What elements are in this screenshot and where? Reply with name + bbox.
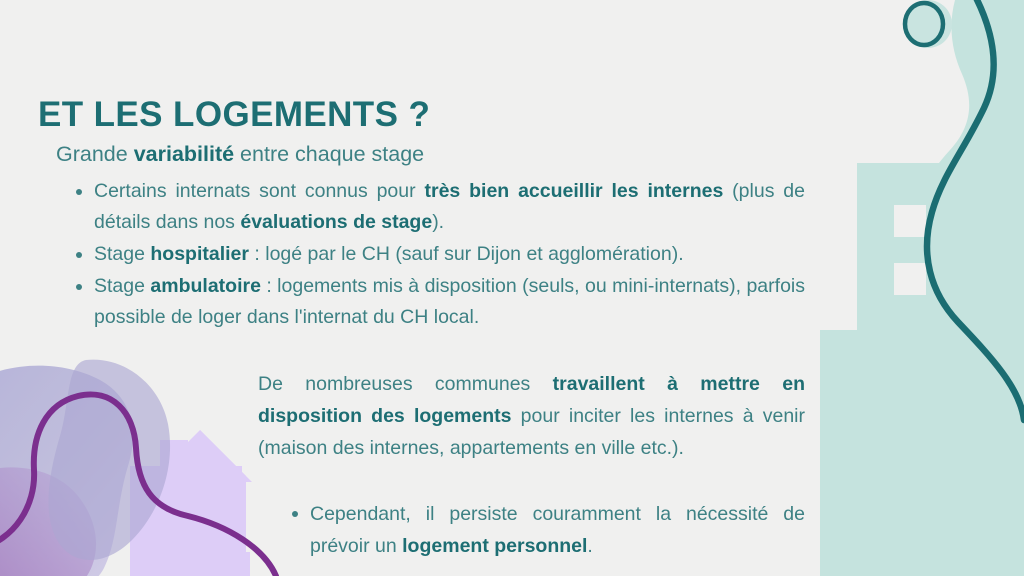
lead-text-bold: variabilité bbox=[134, 142, 234, 166]
bullet-text-part-2: : logé par le CH (sauf sur Dijon et aggl… bbox=[249, 243, 684, 265]
bullet-text-part-3: ). bbox=[432, 211, 444, 233]
list-item: Certains internats sont connus pour très… bbox=[72, 176, 805, 238]
page-title: ET LES LOGEMENTS ? bbox=[38, 95, 430, 135]
bullet-text-bold-1: ambulatoire bbox=[150, 275, 261, 297]
lead-text-part-2: entre chaque stage bbox=[234, 142, 424, 166]
list-item: Cependant, il persiste couramment la néc… bbox=[288, 498, 805, 562]
bullet-text-bold-1: hospitalier bbox=[150, 243, 249, 265]
slide-content: ET LES LOGEMENTS ? Grande variabilité en… bbox=[0, 0, 1024, 576]
sub-bullet-text-bold: logement personnel bbox=[402, 535, 587, 557]
bullet-text-part-1: Certains internats sont connus pour bbox=[94, 180, 424, 202]
lead-line: Grande variabilité entre chaque stage bbox=[56, 142, 424, 167]
paragraph-text-part-1: De nombreuses communes bbox=[258, 373, 553, 395]
bullet-list: Certains internats sont connus pour très… bbox=[72, 176, 805, 334]
paragraph-communes: De nombreuses communes travaillent à met… bbox=[258, 368, 805, 464]
slide: ET LES LOGEMENTS ? Grande variabilité en… bbox=[0, 0, 1024, 576]
sub-bullet-list: Cependant, il persiste couramment la néc… bbox=[288, 498, 805, 562]
lead-text-part-1: Grande bbox=[56, 142, 134, 166]
sub-bullet-text-part-2: . bbox=[587, 535, 592, 557]
paragraph-block: De nombreuses communes travaillent à met… bbox=[258, 368, 805, 464]
list-item: Stage hospitalier : logé par le CH (sauf… bbox=[72, 239, 805, 270]
bullet-text-part-1: Stage bbox=[94, 275, 150, 297]
list-item: Stage ambulatoire : logements mis à disp… bbox=[72, 271, 805, 333]
bullet-text-part-1: Stage bbox=[94, 243, 150, 265]
bullet-text-bold-1: très bien accueillir les internes bbox=[424, 180, 723, 202]
bullet-text-bold-2: évaluations de stage bbox=[240, 211, 432, 233]
